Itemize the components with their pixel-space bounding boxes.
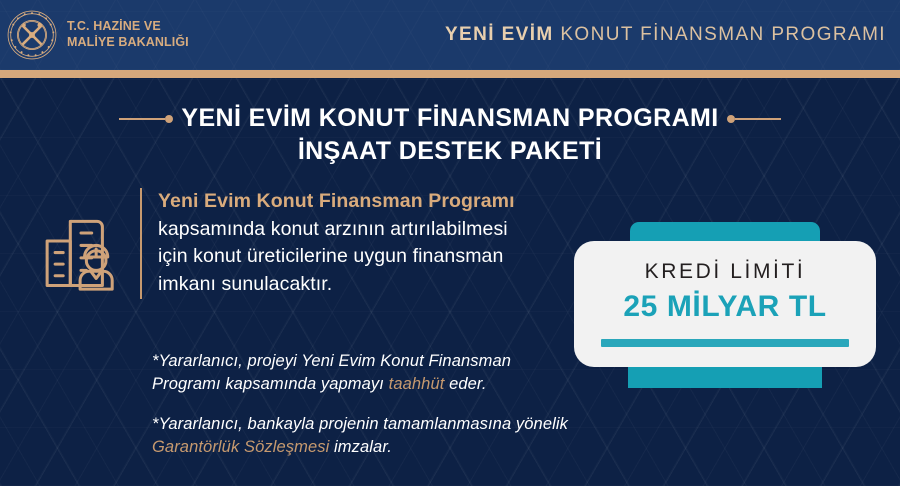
page-header: T.C. HAZİNE VE MALİYE BAKANLIĞI YENİ EVİ…	[0, 0, 900, 70]
page-title-line2: İNŞAAT DESTEK PAKETİ	[0, 137, 900, 166]
description-rest: kapsamında konut arzının artırılabilmesi…	[158, 218, 508, 295]
credit-limit-card: KREDİ LİMİTİ 25 MİLYAR TL	[574, 222, 876, 374]
header-title-light: KONUT FİNANSMAN PROGRAMI	[560, 24, 886, 45]
card-body: KREDİ LİMİTİ 25 MİLYAR TL	[574, 241, 876, 367]
card-value: 25 MİLYAR TL	[623, 290, 826, 324]
header-divider	[0, 70, 900, 78]
header-program-title: YENİ EVİM KONUT FİNANSMAN PROGRAMI	[445, 24, 886, 46]
ministry-name: T.C. HAZİNE VE MALİYE BAKANLIĞI	[67, 19, 189, 50]
footnote-2-before: *Yararlanıcı, bankayla projenin tamamlan…	[152, 415, 568, 433]
footnote-1: *Yararlanıcı, projeyi Yeni Evim Konut Fi…	[152, 350, 572, 396]
description-highlight: Yeni Evim Konut Finansman Programı	[158, 190, 515, 212]
infographic-page: T.C. HAZİNE VE MALİYE BAKANLIĞI YENİ EVİ…	[0, 0, 900, 486]
ministry-seal-icon	[6, 9, 58, 61]
card-label: KREDİ LİMİTİ	[645, 260, 806, 284]
page-title: YENİ EVİM KONUT FİNANSMAN PROGRAMI İNŞAA…	[0, 104, 900, 166]
footnote-2-after: imzalar.	[329, 438, 392, 456]
page-title-line1: YENİ EVİM KONUT FİNANSMAN PROGRAMI	[181, 104, 718, 133]
title-decoration-left	[119, 115, 173, 123]
footnotes: *Yararlanıcı, projeyi Yeni Evim Konut Fi…	[152, 350, 572, 459]
footnote-2: *Yararlanıcı, bankayla projenin tamamlan…	[152, 413, 572, 459]
description-block: Yeni Evim Konut Finansman Programı kapsa…	[140, 188, 525, 299]
header-title-strong: YENİ EVİM	[445, 24, 554, 45]
card-underline	[601, 339, 849, 347]
footnote-2-highlight: Garantörlük Sözleşmesi	[152, 438, 329, 456]
title-decoration-right	[727, 115, 781, 123]
building-construction-worker-icon	[40, 205, 122, 293]
footnote-1-after: eder.	[444, 375, 486, 393]
description-paragraph: Yeni Evim Konut Finansman Programı kapsa…	[158, 188, 525, 299]
footnote-1-highlight: taahhüt	[389, 375, 445, 393]
